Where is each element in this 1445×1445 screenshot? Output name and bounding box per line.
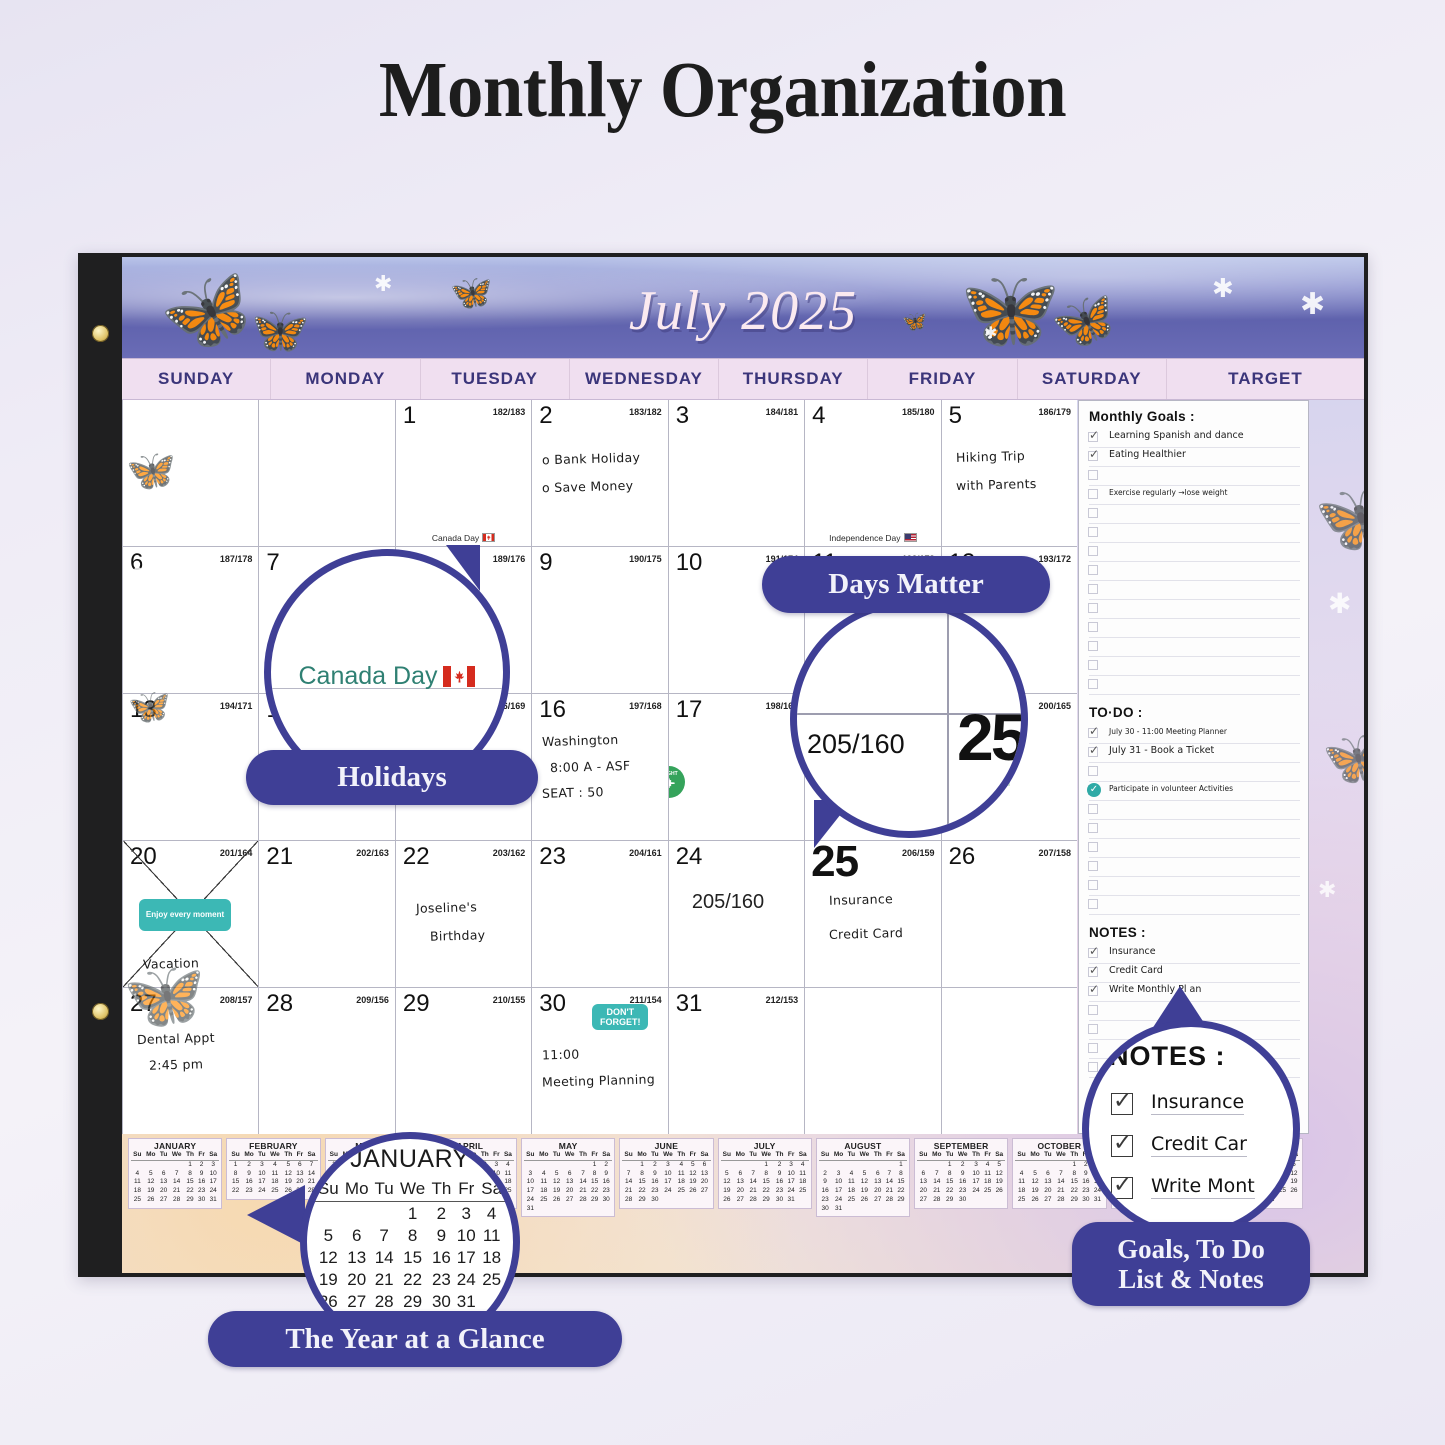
january-day[interactable]: 29 xyxy=(396,1290,428,1312)
january-day[interactable]: 15 xyxy=(396,1246,428,1268)
mini-day: 13 xyxy=(733,1178,747,1187)
mini-day: 15 xyxy=(184,1178,196,1187)
monthly-goal-line[interactable] xyxy=(1089,524,1300,543)
weekday-header-friday: FRIDAY xyxy=(868,359,1017,399)
mini-day: 23 xyxy=(819,1196,832,1205)
mini-day: 21 xyxy=(622,1187,635,1196)
mini-day: 6 xyxy=(562,1170,577,1179)
notes-callout-row: Insurance xyxy=(1111,1089,1293,1125)
holidays-callout-pill: Holidays xyxy=(246,750,538,805)
mini-day: 27 xyxy=(562,1196,577,1205)
january-day[interactable]: 6 xyxy=(342,1224,372,1246)
mini-day: 27 xyxy=(1042,1196,1053,1205)
day-number: 3 xyxy=(676,402,689,430)
day-cell-20[interactable]: 20201/164VacationEnjoy every moment xyxy=(123,841,258,987)
january-day[interactable]: 20 xyxy=(342,1268,372,1290)
mini-day: 9 xyxy=(819,1178,832,1187)
mini-day: 29 xyxy=(895,1196,907,1205)
todo-line[interactable] xyxy=(1089,858,1300,877)
mini-day: 27 xyxy=(733,1196,747,1205)
january-day-empty xyxy=(478,1290,505,1312)
weekday-header-tuesday: TUESDAY xyxy=(421,359,570,399)
mini-day: 13 xyxy=(1042,1178,1053,1187)
january-day[interactable]: 12 xyxy=(315,1246,342,1268)
mini-day: 6 xyxy=(733,1170,747,1179)
mini-month-name: JULY xyxy=(721,1141,809,1151)
day-cell-26[interactable]: 26207/158 xyxy=(942,841,1077,987)
january-week-row: 12131415161718 xyxy=(315,1246,505,1268)
mini-day: 27 xyxy=(872,1196,884,1205)
day-counter: 205/160 xyxy=(692,891,764,914)
mini-day: 3 xyxy=(786,1160,797,1169)
binder-rivet-bottom xyxy=(92,1003,109,1020)
mini-day: 13 xyxy=(917,1178,930,1187)
mini-day: 19 xyxy=(687,1178,698,1187)
january-day[interactable]: 22 xyxy=(396,1268,428,1290)
mini-day: 10 xyxy=(970,1170,982,1179)
day-cell-24[interactable]: 24205/160 xyxy=(669,841,804,987)
mini-day: 7 xyxy=(577,1170,589,1179)
mini-day: 28 xyxy=(169,1196,184,1205)
day-counter: 193/172 xyxy=(1038,554,1071,564)
january-day[interactable]: 4 xyxy=(478,1202,505,1225)
mini-day: 10 xyxy=(831,1178,845,1187)
mini-day: 8 xyxy=(635,1170,649,1179)
weekday-header-target: TARGET xyxy=(1167,359,1364,399)
day-cell-3[interactable]: 3184/181 xyxy=(669,400,804,546)
mini-day: 23 xyxy=(196,1187,207,1196)
january-day[interactable]: 16 xyxy=(429,1246,454,1268)
checkbox-icon[interactable] xyxy=(1088,603,1098,613)
note-item-text: Insurance xyxy=(1109,946,1156,957)
day-cell-23[interactable]: 23204/161 xyxy=(532,841,667,987)
january-day[interactable]: 21 xyxy=(372,1268,397,1290)
day-counter: 206/159 xyxy=(902,848,935,858)
checkbox-checked-icon xyxy=(1111,1093,1133,1115)
mini-day: 4 xyxy=(846,1170,857,1179)
day-number: 6 xyxy=(130,549,143,577)
mini-month-name: JANUARY xyxy=(131,1141,219,1151)
checkbox-icon[interactable] xyxy=(1088,508,1098,518)
january-day[interactable]: 5 xyxy=(315,1224,342,1246)
usa-flag-icon xyxy=(904,533,917,542)
mini-day: 25 xyxy=(1015,1196,1028,1205)
checkbox-checked-teal-icon[interactable]: ✓ xyxy=(1087,783,1101,797)
checkmark-icon: ✓ xyxy=(1089,982,1099,996)
mini-day: 28 xyxy=(747,1196,758,1205)
mini-day: 11 xyxy=(846,1178,857,1187)
mini-day: 5 xyxy=(551,1170,562,1179)
monthly-goal-line[interactable] xyxy=(1089,657,1300,676)
day-cell-28[interactable]: 28209/156 xyxy=(259,988,394,1134)
mini-day: 14 xyxy=(577,1178,589,1187)
january-day[interactable]: 26 xyxy=(315,1290,342,1312)
mini-day: 18 xyxy=(982,1178,993,1187)
checkbox-icon[interactable] xyxy=(1088,584,1098,594)
mini-day: 22 xyxy=(759,1187,774,1196)
mini-day: 28 xyxy=(884,1196,895,1205)
todo-line[interactable]: ✓July 30 - 11:00 Meeting Planner xyxy=(1089,725,1300,744)
mini-day: 21 xyxy=(169,1187,184,1196)
handwritten-note: Insurance xyxy=(829,888,894,912)
january-day[interactable]: 30 xyxy=(429,1290,454,1312)
mini-day: 27 xyxy=(917,1196,930,1205)
checkmark-icon: ✓ xyxy=(1089,963,1099,977)
mini-month-january[interactable]: JANUARYSuMoTuWeThFrSa1234567891011121314… xyxy=(128,1138,222,1209)
checkbox-icon[interactable] xyxy=(1088,861,1098,871)
mini-day: 27 xyxy=(698,1187,710,1196)
note-line[interactable]: ✓Insurance xyxy=(1089,945,1300,964)
mini-day: 16 xyxy=(600,1178,612,1187)
mini-day: 31 xyxy=(786,1196,797,1205)
mini-day: 3 xyxy=(970,1160,982,1169)
day-cell-4[interactable]: 4185/180Independence Day xyxy=(805,400,940,546)
mini-day: 12 xyxy=(144,1178,158,1187)
day-cell-9[interactable]: 9190/175 xyxy=(532,547,667,693)
january-day[interactable]: 3 xyxy=(454,1202,478,1225)
january-day[interactable]: 31 xyxy=(454,1290,478,1312)
monthly-goal-line[interactable] xyxy=(1089,619,1300,638)
notes-magnifier: NOTES : Insurance Credit Car Write Mont xyxy=(1082,1020,1300,1238)
mini-day: 20 xyxy=(872,1187,884,1196)
mini-day: 28 xyxy=(622,1196,635,1205)
day-cell-5[interactable]: 5186/179Hiking Tripwith Parents xyxy=(942,400,1077,546)
mini-day: 18 xyxy=(797,1178,809,1187)
monthly-goal-line[interactable] xyxy=(1089,505,1300,524)
day-number: 26 xyxy=(949,843,976,871)
mini-day: 7 xyxy=(747,1170,758,1179)
mini-day: 21 xyxy=(930,1187,944,1196)
monthly-goal-line[interactable] xyxy=(1089,467,1300,486)
mini-day: 15 xyxy=(635,1178,649,1187)
day-cell-21[interactable]: 21202/163 xyxy=(259,841,394,987)
january-day[interactable]: 2 xyxy=(429,1202,454,1225)
monthly-goals-header: Monthly Goals : xyxy=(1089,409,1308,424)
todo-line[interactable]: ✓Participate in volunteer Activities xyxy=(1089,782,1300,801)
mini-month-august[interactable]: AUGUSTSuMoTuWeThFrSa12345678910111213141… xyxy=(816,1138,910,1217)
mini-day: 16 xyxy=(955,1178,970,1187)
day-cell-empty[interactable] xyxy=(123,400,258,546)
january-day[interactable]: 13 xyxy=(342,1246,372,1268)
mini-day: 3 xyxy=(524,1170,537,1179)
todo-line[interactable] xyxy=(1089,801,1300,820)
monthly-goal-line[interactable]: ✓Learning Spanish and dance xyxy=(1089,429,1300,448)
january-day[interactable]: 25 xyxy=(478,1268,505,1290)
january-day[interactable]: 18 xyxy=(478,1246,505,1268)
mini-day: 9 xyxy=(649,1170,660,1179)
checkbox-icon[interactable] xyxy=(1088,660,1098,670)
january-day[interactable]: 27 xyxy=(342,1290,372,1312)
mini-day: 11 xyxy=(1015,1178,1028,1187)
handwritten-note: Vacation xyxy=(143,952,200,975)
checkbox-icon[interactable] xyxy=(1088,565,1098,575)
mini-day: 8 xyxy=(895,1170,907,1179)
weekday-header-wednesday: WEDNESDAY xyxy=(570,359,719,399)
day-cell-2[interactable]: 2183/182o Bank Holidayo Save Money xyxy=(532,400,667,546)
checkbox-icon[interactable] xyxy=(1088,823,1098,833)
mini-day: 1 xyxy=(944,1160,955,1169)
mini-day: 14 xyxy=(1054,1178,1069,1187)
mini-day: 20 xyxy=(733,1187,747,1196)
handwritten-note: Birthday xyxy=(430,924,486,947)
weekday-header-saturday: SATURDAY xyxy=(1018,359,1167,399)
day-cell-empty[interactable] xyxy=(942,988,1077,1134)
mini-month-june[interactable]: JUNESuMoTuWeThFrSa1234567891011121314151… xyxy=(619,1138,713,1209)
year-glance-callout-tail xyxy=(247,1185,305,1245)
monthly-goal-item-text: Learning Spanish and dance xyxy=(1109,430,1244,441)
mini-day: 17 xyxy=(207,1178,219,1187)
notes-callout-title: NOTES : xyxy=(1109,1041,1226,1072)
mini-day: 9 xyxy=(600,1170,612,1179)
mini-day: 30 xyxy=(649,1196,660,1205)
checkbox-icon[interactable] xyxy=(1088,1005,1098,1015)
days-matter-counter: 205/160 xyxy=(807,729,905,760)
checkbox-icon[interactable] xyxy=(1088,527,1098,537)
mini-day: 2 xyxy=(955,1160,970,1169)
checkbox-checked-icon xyxy=(1111,1135,1133,1157)
day-number: 22 xyxy=(403,843,430,871)
day-number: 31 xyxy=(676,990,703,1018)
mini-day: 4 xyxy=(1015,1170,1028,1179)
days-matter-magnifier: 205/160 25 xyxy=(790,600,1028,838)
day-number: 2 xyxy=(539,402,552,430)
todo-line[interactable] xyxy=(1089,763,1300,782)
january-day[interactable]: 23 xyxy=(429,1268,454,1290)
day-cell-30[interactable]: 30211/15411:00Meeting PlanningDON'T FORG… xyxy=(532,988,667,1134)
mini-day: 14 xyxy=(930,1178,944,1187)
mini-day: 24 xyxy=(786,1187,797,1196)
mini-day: 2 xyxy=(819,1170,832,1179)
mini-day: 30 xyxy=(955,1196,970,1205)
day-cell-empty[interactable] xyxy=(259,400,394,546)
mini-day: 22 xyxy=(229,1187,242,1196)
january-week-row: 19202122232425 xyxy=(315,1268,505,1290)
mini-day: 18 xyxy=(1015,1187,1028,1196)
monthly-goal-line[interactable] xyxy=(1089,638,1300,657)
monthly-goal-line[interactable]: ✓Eating Healthier xyxy=(1089,448,1300,467)
mini-day: 11 xyxy=(675,1170,687,1179)
day-cell-22[interactable]: 22203/162Joseline'sBirthday xyxy=(396,841,531,987)
note-line[interactable]: ✓Credit Card xyxy=(1089,964,1300,983)
mini-month-name: AUGUST xyxy=(819,1141,907,1151)
january-day[interactable]: 10 xyxy=(454,1224,478,1246)
monthly-goal-line[interactable]: Exercise regularly →lose weight xyxy=(1089,486,1300,505)
mini-day: 10 xyxy=(207,1170,219,1179)
mini-day: 19 xyxy=(857,1187,872,1196)
checkbox-icon[interactable] xyxy=(1088,470,1098,480)
checkbox-icon[interactable] xyxy=(1088,766,1098,776)
january-day[interactable]: 1 xyxy=(396,1202,428,1225)
mini-day: 27 xyxy=(158,1196,169,1205)
mini-day: 17 xyxy=(786,1178,797,1187)
mini-month-may[interactable]: MAYSuMoTuWeThFrSa12345678910111213141516… xyxy=(521,1138,615,1217)
day-cell-25[interactable]: 25206/159InsuranceCredit Card xyxy=(805,841,940,987)
todo-item-text: July 31 - Book a Ticket xyxy=(1109,745,1214,756)
mini-day: 4 xyxy=(131,1170,144,1179)
january-day-empty xyxy=(315,1202,342,1225)
mini-day: 20 xyxy=(1042,1187,1053,1196)
mini-day: 10 xyxy=(786,1170,797,1179)
mini-day: 22 xyxy=(895,1187,907,1196)
monthly-goal-line[interactable] xyxy=(1089,581,1300,600)
mini-day: 22 xyxy=(184,1187,196,1196)
mini-day: 22 xyxy=(1068,1187,1080,1196)
monthly-goal-line[interactable] xyxy=(1089,600,1300,619)
canada-flag-icon xyxy=(443,666,475,687)
day-number: 24 xyxy=(676,843,703,871)
notes-callout-pill-line2: List & Notes xyxy=(1118,1264,1263,1294)
day-cell-29[interactable]: 29210/155 xyxy=(396,988,531,1134)
mini-day: 28 xyxy=(1054,1196,1069,1205)
todo-line[interactable] xyxy=(1089,839,1300,858)
mini-day: 1 xyxy=(184,1160,196,1169)
day-counter: 194/171 xyxy=(220,701,253,711)
checkmark-icon: ✓ xyxy=(1089,724,1099,738)
mini-day: 2 xyxy=(600,1160,612,1169)
mini-day: 24 xyxy=(831,1196,845,1205)
mini-month-september[interactable]: SEPTEMBERSuMoTuWeThFrSa12345678910111213… xyxy=(914,1138,1008,1209)
mini-day: 7 xyxy=(622,1170,635,1179)
mini-day: 13 xyxy=(158,1178,169,1187)
checkbox-icon[interactable] xyxy=(1088,641,1098,651)
checkbox-icon[interactable] xyxy=(1088,546,1098,556)
mini-day: 26 xyxy=(993,1187,1005,1196)
mini-day: 9 xyxy=(242,1170,256,1179)
day-cell-16[interactable]: 16197/168Washington8:00 A - ASFSEAT : 50 xyxy=(532,694,667,840)
checkbox-checked-icon xyxy=(1111,1177,1133,1199)
mini-day: 20 xyxy=(158,1187,169,1196)
checkbox-icon[interactable] xyxy=(1088,804,1098,814)
todo-line[interactable] xyxy=(1089,820,1300,839)
handwritten-note: SEAT : 50 xyxy=(542,781,604,805)
checkbox-icon[interactable] xyxy=(1088,880,1098,890)
mini-day: 24 xyxy=(524,1196,537,1205)
mini-day: 29 xyxy=(184,1196,196,1205)
january-dow-header: Tu xyxy=(372,1179,397,1202)
mini-day: 7 xyxy=(930,1170,944,1179)
handwritten-note: 11:00 xyxy=(542,1043,580,1066)
mini-day: 28 xyxy=(577,1196,589,1205)
day-counter: 186/179 xyxy=(1038,407,1071,417)
mini-day: 25 xyxy=(846,1196,857,1205)
canada-day-label: Canada Day xyxy=(271,662,503,691)
todo-line[interactable] xyxy=(1089,896,1300,915)
mini-day: 4 xyxy=(268,1160,283,1169)
day-cell-13[interactable]: 13194/171 xyxy=(123,694,258,840)
january-week-row: 1234 xyxy=(315,1202,505,1225)
mini-day: 8 xyxy=(944,1170,955,1179)
mini-day: 2 xyxy=(649,1160,660,1169)
january-day[interactable]: 14 xyxy=(372,1246,397,1268)
mini-day: 4 xyxy=(797,1160,809,1169)
checkmark-icon: ✓ xyxy=(1089,447,1099,461)
january-day[interactable]: 11 xyxy=(478,1224,505,1246)
checkbox-icon[interactable] xyxy=(1088,842,1098,852)
mini-day: 1 xyxy=(229,1160,242,1169)
mini-day: 29 xyxy=(1068,1196,1080,1205)
todo-list: ✓July 30 - 11:00 Meeting Planner✓July 31… xyxy=(1079,725,1308,915)
handwritten-note: Washington xyxy=(542,729,619,753)
mini-day: 5 xyxy=(857,1170,872,1179)
mini-day: 5 xyxy=(993,1160,1005,1169)
mini-day: 29 xyxy=(759,1196,774,1205)
butterfly-icon: 🦋 xyxy=(1322,727,1364,790)
checkbox-icon[interactable] xyxy=(1088,622,1098,632)
monthly-goal-line[interactable] xyxy=(1089,543,1300,562)
mini-day: 12 xyxy=(857,1178,872,1187)
mini-day: 19 xyxy=(993,1178,1005,1187)
january-day[interactable]: 19 xyxy=(315,1268,342,1290)
mini-day: 30 xyxy=(600,1196,612,1205)
mini-day: 8 xyxy=(759,1170,774,1179)
mini-day: 25 xyxy=(675,1187,687,1196)
day-cell-6[interactable]: 6187/178 xyxy=(123,547,258,693)
monthly-goal-line[interactable] xyxy=(1089,562,1300,581)
day-cell-27[interactable]: 27208/157Dental Appt2:45 pm xyxy=(123,988,258,1134)
day-cell-empty[interactable] xyxy=(805,988,940,1134)
january-day[interactable]: 8 xyxy=(396,1224,428,1246)
mini-day: 17 xyxy=(831,1187,845,1196)
mini-day: 3 xyxy=(831,1170,845,1179)
mini-day: 26 xyxy=(144,1196,158,1205)
todo-line[interactable]: ✓July 31 - Book a Ticket xyxy=(1089,744,1300,763)
weekday-header-monday: MONDAY xyxy=(271,359,420,399)
january-day[interactable]: 17 xyxy=(454,1246,478,1268)
handwritten-note: Credit Card xyxy=(829,922,904,946)
mini-day: 4 xyxy=(675,1160,687,1169)
todo-line[interactable] xyxy=(1089,877,1300,896)
notes-callout-row: Credit Car xyxy=(1111,1131,1293,1167)
mini-day: 23 xyxy=(955,1187,970,1196)
day-cell-1[interactable]: 1182/183Canada Day xyxy=(396,400,531,546)
sticker-enjoy-every-moment: Enjoy every moment xyxy=(139,899,231,931)
notes-callout-pill: Goals, To Do List & Notes xyxy=(1072,1222,1310,1306)
day-number: 4 xyxy=(812,402,825,430)
january-day[interactable]: 9 xyxy=(429,1224,454,1246)
checkbox-icon[interactable] xyxy=(1088,679,1098,689)
day-counter: 187/178 xyxy=(220,554,253,564)
day-cell-31[interactable]: 31212/153 xyxy=(669,988,804,1134)
mini-day: 1 xyxy=(759,1160,774,1169)
checkbox-icon[interactable] xyxy=(1088,899,1098,909)
day-number: 23 xyxy=(539,843,566,871)
day-counter: 183/182 xyxy=(629,407,662,417)
mini-day: 10 xyxy=(524,1178,537,1187)
mini-day: 25 xyxy=(797,1187,809,1196)
mini-day: 16 xyxy=(773,1178,785,1187)
january-day-empty xyxy=(372,1202,397,1225)
handwritten-note: Joseline's xyxy=(416,896,478,920)
mini-day: 9 xyxy=(773,1170,785,1179)
january-day[interactable]: 7 xyxy=(372,1224,397,1246)
sticker-dont-forget: DON'T FORGET! xyxy=(592,1004,648,1030)
checkbox-icon[interactable] xyxy=(1088,489,1098,499)
mini-day: 26 xyxy=(721,1196,734,1205)
january-day[interactable]: 28 xyxy=(372,1290,397,1312)
day-counter: 197/168 xyxy=(629,701,662,711)
day-cell-17[interactable]: 17198/167FLIGHT✈ xyxy=(669,694,804,840)
mini-day: 6 xyxy=(158,1170,169,1179)
mini-day: 13 xyxy=(294,1170,305,1179)
todo-header: TO·DO : xyxy=(1089,705,1308,720)
mini-day: 1 xyxy=(895,1160,907,1169)
days-matter-callout-pill: Days Matter xyxy=(762,556,1050,613)
mini-month-july[interactable]: JULYSuMoTuWeThFrSa1234567891011121314151… xyxy=(718,1138,812,1209)
january-day[interactable]: 24 xyxy=(454,1268,478,1290)
monthly-goal-line[interactable] xyxy=(1089,676,1300,695)
mini-day: 15 xyxy=(589,1178,600,1187)
january-dow-header: Mo xyxy=(342,1179,372,1202)
